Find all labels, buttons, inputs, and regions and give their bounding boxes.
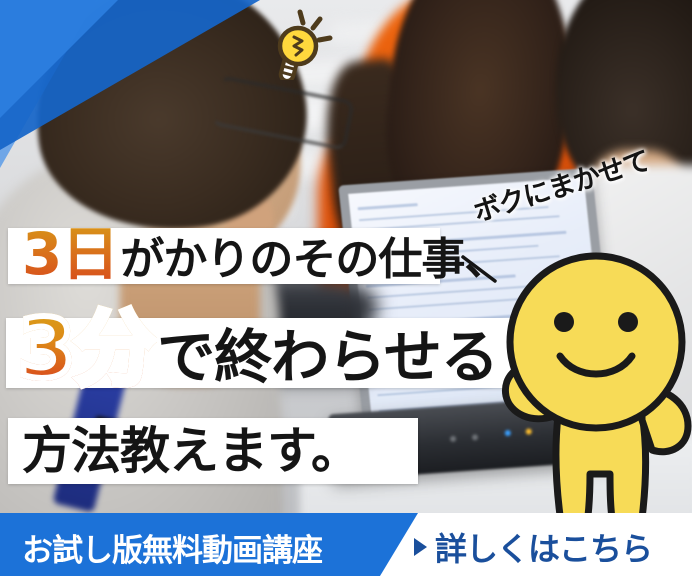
mascot-character [492, 238, 692, 550]
headline-line-3: 方法教えます。 [22, 418, 360, 484]
details-link[interactable]: 詳しくはこちら [414, 524, 652, 570]
headline-accent-3minutes: 3分 [18, 302, 157, 397]
headline-line-1: 3日がかりのその仕事、 [22, 224, 507, 290]
headline-line-1-text: がかりのその仕事、 [120, 234, 507, 285]
headline-line-2: 3分で終わらせる [18, 308, 498, 399]
play-triangle-icon [414, 538, 427, 556]
advertisement-banner[interactable]: 3日がかりのその仕事、 3分で終わらせる 方法教えます。 ボクにまかせて [0, 0, 692, 576]
lightbulb-icon [258, 6, 340, 80]
corner-accent-mid [0, 0, 118, 118]
free-trial-badge-label: お試し版無料動画講座 [22, 525, 322, 570]
headline-line-2-text: で終わらせる [157, 323, 498, 391]
details-link-label: 詳しくはこちら [435, 524, 652, 570]
mascot-eye-left [554, 312, 574, 332]
mascot-eye-right [618, 312, 638, 332]
bottom-cta-bar[interactable]: お試し版無料動画講座 詳しくはこちら [0, 513, 692, 576]
headline-accent-3days: 3日 [22, 220, 120, 288]
